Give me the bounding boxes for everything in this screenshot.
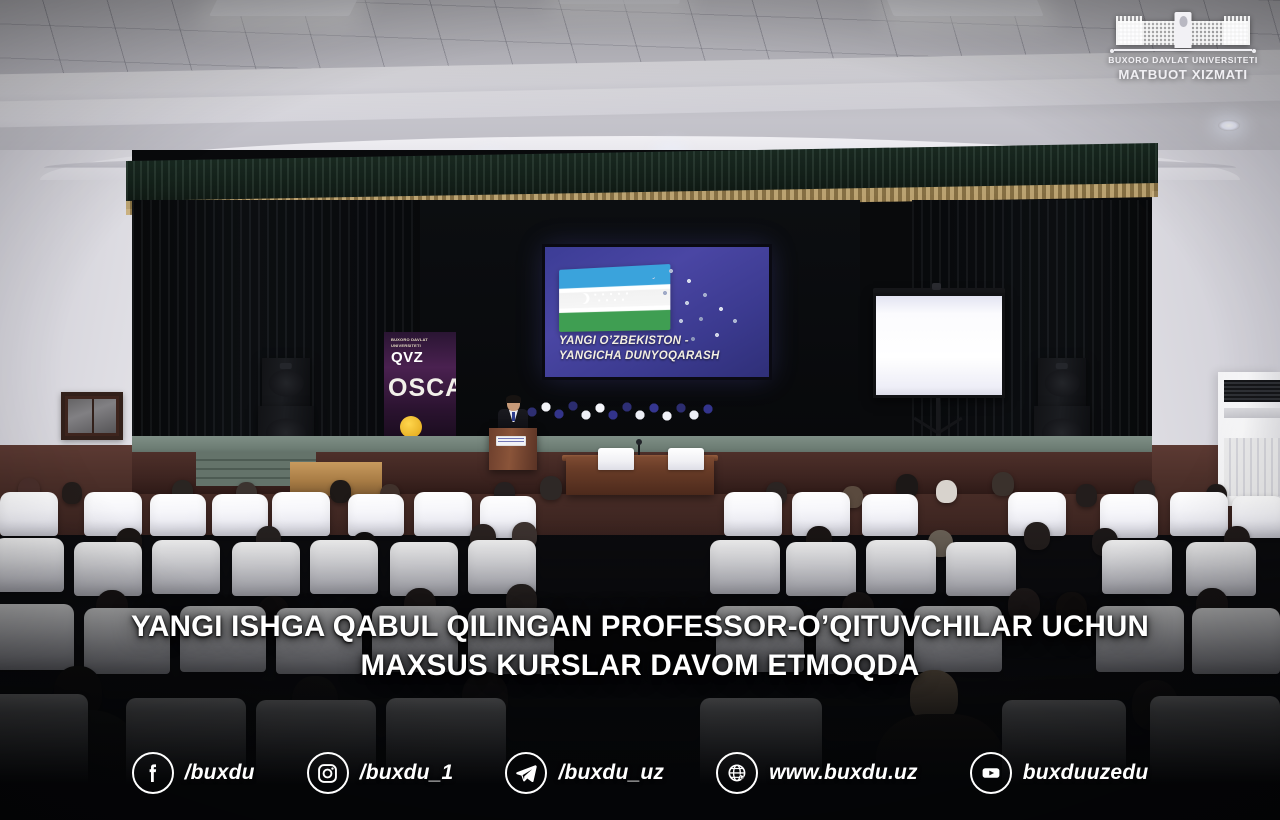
social-item-telegram[interactable]: /buxdu_uz (505, 752, 664, 794)
telegram-icon[interactable] (505, 752, 547, 794)
presidium-chair (668, 448, 704, 470)
fire-cabinet-divider (92, 399, 94, 433)
ceiling-light-panel (886, 0, 1043, 16)
flag-stars-icon (591, 290, 635, 305)
headline-line-2: MAXSUS KURSLAR DAVOM ETMOQDA (46, 647, 1234, 686)
audience-head (1024, 522, 1050, 550)
audience-chair (786, 542, 856, 596)
audience-head (992, 472, 1014, 496)
social-item-facebook[interactable]: /buxdu (132, 752, 255, 794)
social-item-website[interactable]: www.buxdu.uz (716, 752, 918, 794)
social-handle-telegram: /buxdu_uz (558, 761, 664, 785)
facebook-icon[interactable] (132, 752, 174, 794)
audience-head (1076, 484, 1097, 507)
projector-screen (873, 293, 1005, 398)
stage-banner: YANGI O’ZBEKISTON - YANGICHA DUNYOQARASH (545, 247, 769, 377)
pa-speaker-tweeter (280, 363, 292, 369)
audience-chair (710, 540, 780, 594)
audience-chair (0, 492, 58, 536)
audience-chair (414, 492, 472, 536)
audience-chair (272, 492, 330, 536)
ceiling-spotlight (1218, 120, 1240, 131)
audience-head (540, 476, 562, 500)
audience-chair (232, 542, 300, 596)
audience-chair (1186, 542, 1256, 596)
air-conditioner-panel (1224, 408, 1280, 418)
air-conditioner-grille (1224, 380, 1280, 402)
balloon-garland (524, 398, 720, 424)
social-handle-facebook: /buxdu (185, 761, 255, 785)
projector-screen-knob (932, 283, 941, 290)
side-banner-title: QVZ (391, 349, 423, 366)
audience-chair (150, 494, 206, 536)
side-banner-top-text: BUXORO DAVLAT UNIVERSITETI (391, 337, 456, 349)
building-base-dot (1252, 49, 1256, 53)
audience-chair (1170, 492, 1228, 536)
social-item-instagram[interactable]: /buxdu_1 (307, 752, 454, 794)
social-handle-youtube: buxduuzedu (1023, 761, 1149, 785)
audience-chair (0, 538, 64, 592)
poster-image: YANGI O’ZBEKISTON - YANGICHA DUNYOQARASH… (0, 0, 1280, 820)
university-building-icon (1108, 12, 1258, 48)
side-banner-qvz: BUXORO DAVLAT UNIVERSITETI QVZ OSCA JAM (384, 332, 456, 450)
instagram-icon[interactable] (307, 752, 349, 794)
flag-crescent-icon (576, 293, 587, 304)
audience-chair (310, 540, 378, 594)
logo-line-2: MATBUOT XIZMATI (1108, 67, 1258, 82)
building-central-tower (1175, 12, 1192, 48)
side-banner-subtitle: OSCA (388, 374, 456, 403)
stage-banner-line2: YANGICHA DUNYOQARASH (559, 349, 720, 365)
presidium-chair (598, 448, 634, 470)
side-banner-emoji-icon (400, 416, 422, 438)
pa-speaker-tweeter (1056, 363, 1068, 369)
audience-chair (74, 542, 142, 596)
audience-chair (152, 540, 220, 594)
stage-banner-line1: YANGI O’ZBEKISTON - (559, 334, 720, 350)
audience-head (936, 480, 957, 503)
speaker-hair (506, 395, 521, 403)
website-icon[interactable] (716, 752, 758, 794)
youtube-icon[interactable] (970, 752, 1012, 794)
social-handle-website: www.buxdu.uz (769, 761, 918, 785)
social-item-youtube[interactable]: buxduuzedu (970, 752, 1149, 794)
headline: YANGI ISHGA QABUL QILINGAN PROFESSOR-O’Q… (0, 608, 1280, 686)
speaker-tie (512, 412, 515, 421)
audience-chair (1102, 540, 1172, 594)
building-baseline (1114, 49, 1252, 51)
social-handle-instagram: /buxdu_1 (360, 761, 454, 785)
ceiling-light-panel (209, 0, 359, 16)
pa-speaker-left-top (262, 358, 310, 406)
audience-chair (946, 542, 1016, 596)
headline-line-1: YANGI ISHGA QABUL QILINGAN PROFESSOR-O’Q… (46, 608, 1234, 647)
university-press-logo: BUXORO DAVLAT UNIVERSITETI MATBUOT XIZMA… (1108, 12, 1258, 76)
speaker-person (498, 396, 528, 432)
audience-head (62, 482, 82, 504)
pa-speaker-right-top (1038, 358, 1086, 406)
audience-chair (862, 494, 918, 536)
projector-screen-surface (876, 296, 1002, 395)
stage-banner-text: YANGI O’ZBEKISTON - YANGICHA DUNYOQARASH (559, 334, 720, 365)
fire-equipment-cabinet (61, 392, 123, 440)
building-base-dot (1110, 49, 1114, 53)
audience-chair (724, 492, 782, 536)
ceiling-light-panel (559, 0, 680, 4)
audience-chair (348, 494, 404, 536)
podium-logo-plate (496, 436, 526, 446)
podium (489, 428, 537, 470)
social-media-bar: /buxdu /buxdu_1 /buxdu_uz (0, 752, 1280, 794)
audience-chair (866, 540, 936, 594)
logo-line-1: BUXORO DAVLAT UNIVERSITETI (1108, 55, 1258, 65)
